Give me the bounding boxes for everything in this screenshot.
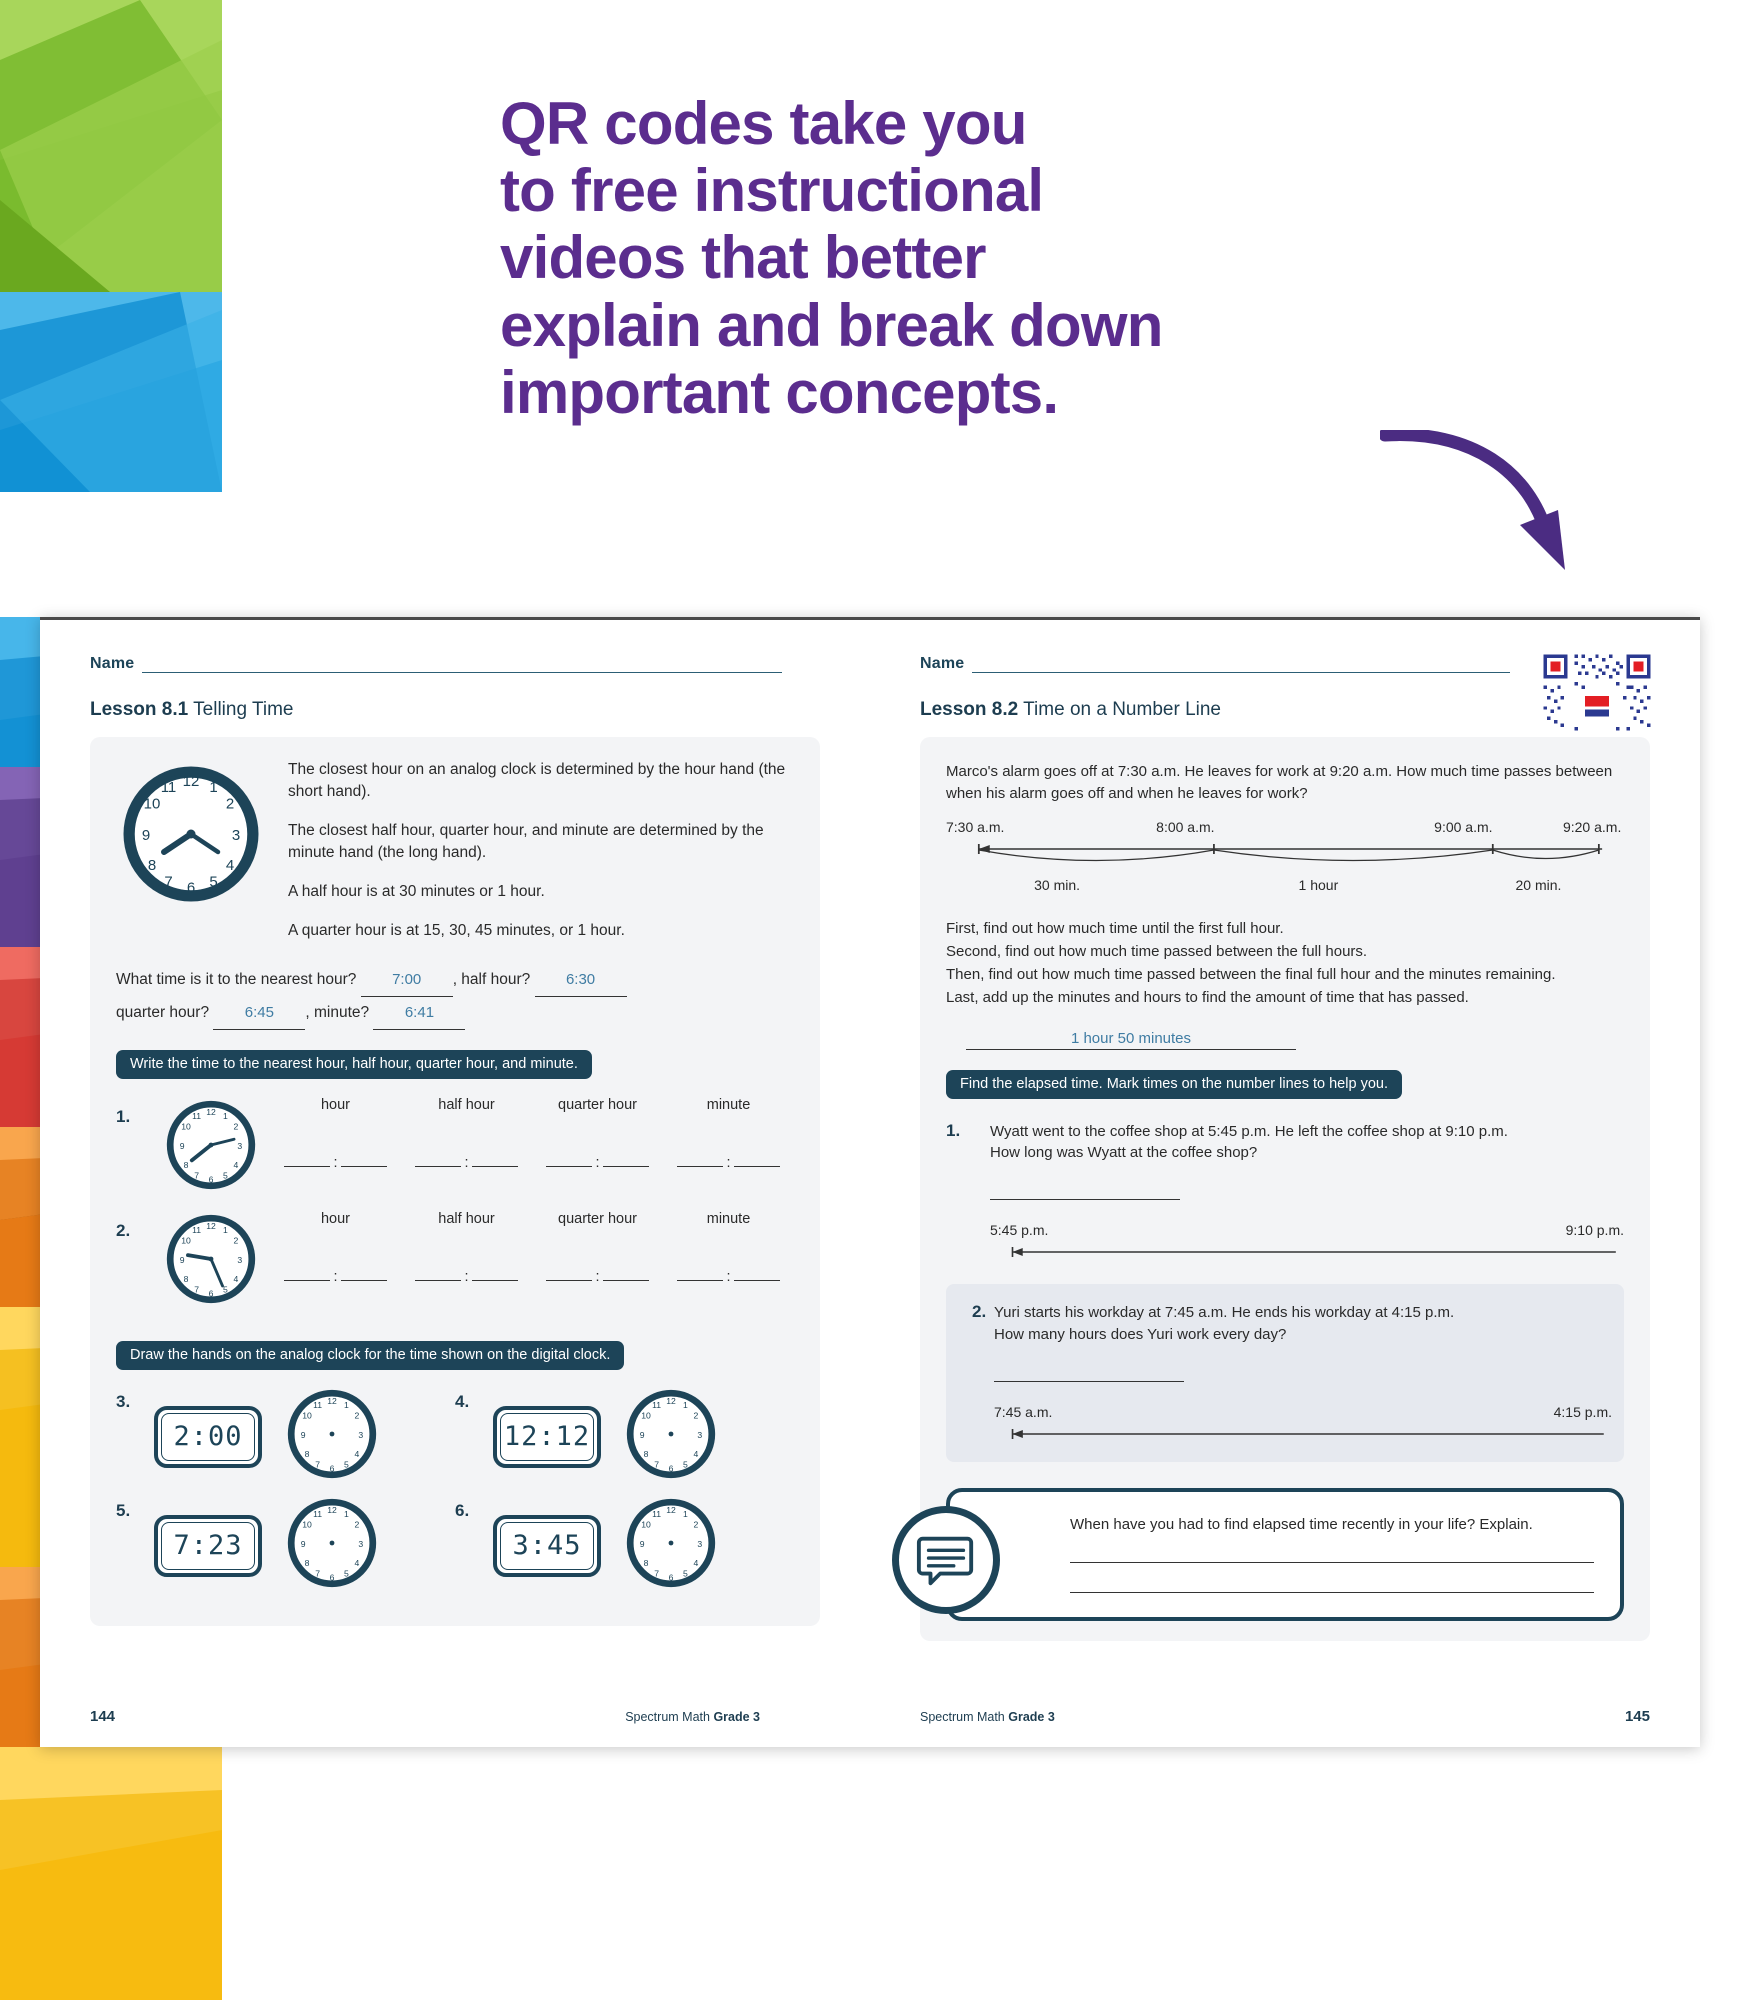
intro-paragraph-4: A quarter hour is at 15, 30, 45 minutes,… [288, 920, 794, 942]
page-number-right: 145 [1625, 1708, 1650, 1725]
svg-text:9: 9 [180, 1255, 185, 1265]
exercise-number-2: 2. [116, 1211, 152, 1241]
problem-body-2: Yuri starts his workday at 7:45 a.m. He … [994, 1302, 1612, 1444]
worksheet-spread: Name Lesson 8.1 Telling Time 1212 345 67… [40, 617, 1700, 1747]
svg-text:9: 9 [640, 1430, 645, 1440]
problem-answer-blank-1[interactable] [990, 1190, 1180, 1200]
svg-text:9: 9 [142, 827, 150, 844]
name-input-right[interactable] [972, 657, 1510, 673]
answer-blank-quarter-hour-2[interactable]: : [532, 1267, 663, 1285]
number-line-tick-labels: 7:30 a.m. 8:00 a.m. 9:00 a.m. 9:20 a.m. [946, 819, 1624, 841]
svg-text:7: 7 [194, 1171, 199, 1181]
reflection-answer-line-2[interactable] [1070, 1589, 1594, 1593]
worksheet-page-left: Name Lesson 8.1 Telling Time 1212 345 67… [40, 617, 870, 1747]
nl-tick-label-2: 8:00 a.m. [1156, 819, 1214, 835]
answer-blanks-1: : : : : [270, 1153, 794, 1171]
nl-span-label-2: 1 hour [1299, 877, 1339, 893]
digital-exercise-3: 3. 2:00 1212 345 678 [116, 1386, 455, 1487]
reflection-question: When have you had to find elapsed time r… [1070, 1516, 1594, 1533]
svg-text:7: 7 [654, 1569, 659, 1579]
intro-paragraph-2: The closest half hour, quarter hour, and… [288, 820, 794, 864]
sample-question: What time is it to the nearest hour? 7:0… [116, 964, 794, 1030]
svg-text:12: 12 [327, 1396, 337, 1406]
analog-exercise-row: 2. 1212 345 678 91011 [116, 1211, 794, 1307]
svg-text:12: 12 [327, 1505, 337, 1515]
sample-answer-half-hour[interactable]: 6:30 [535, 965, 627, 997]
lesson-number-right: Lesson 8.2 [920, 699, 1018, 720]
svg-text:2: 2 [234, 1236, 239, 1246]
digital-clock-6: 3:45 [493, 1515, 601, 1577]
svg-text:4: 4 [355, 1558, 360, 1568]
instruction-banner-right: Find the elapsed time. Mark times on the… [946, 1070, 1402, 1099]
example-analog-clock: 1212 345 678 91011 [116, 759, 266, 914]
svg-text:5: 5 [344, 1569, 349, 1579]
answer-blank-minute-2[interactable]: : [663, 1267, 794, 1285]
svg-text:4: 4 [234, 1160, 239, 1170]
svg-text:2: 2 [226, 796, 234, 813]
svg-text:6: 6 [669, 1463, 674, 1473]
footer-left: 144 Spectrum Math Grade 3 [90, 1708, 820, 1725]
svg-text:3: 3 [358, 1539, 363, 1549]
reflection-answer-line-1[interactable] [1070, 1559, 1594, 1563]
svg-text:11: 11 [192, 1225, 201, 1235]
answer-blank-hour-2[interactable]: : [270, 1267, 401, 1285]
analog-clock-1: 1212 345 678 91011 [152, 1097, 270, 1193]
exercise-number-6: 6. [455, 1495, 493, 1521]
svg-text:3: 3 [237, 1141, 242, 1151]
timeline-start-label-1: 5:45 p.m. [990, 1222, 1048, 1238]
svg-text:7: 7 [315, 1460, 320, 1470]
svg-text:6: 6 [330, 1572, 335, 1582]
digital-clock-exercises: 3. 2:00 1212 345 678 [116, 1386, 794, 1596]
left-content-panel: 1212 345 678 91011 The closest hour on a… [90, 737, 820, 1626]
headline-line-3: videos that better [500, 224, 986, 291]
svg-text:11: 11 [192, 1111, 201, 1121]
svg-text:10: 10 [181, 1122, 191, 1132]
lesson-title-left: Lesson 8.1 Telling Time [90, 699, 820, 721]
svg-text:8: 8 [184, 1274, 189, 1284]
name-row-left: Name [90, 655, 820, 673]
answer-columns-2: hour half hour quarter hour minute : : :… [270, 1211, 794, 1285]
svg-text:8: 8 [184, 1160, 189, 1170]
book-credit-left: Spectrum Math Grade 3 [625, 1710, 760, 1724]
nl-tick-label-3: 9:00 a.m. [1434, 819, 1492, 835]
nl-tick-label-1: 7:30 a.m. [946, 819, 1004, 835]
svg-text:12: 12 [183, 773, 200, 790]
svg-text:10: 10 [641, 1520, 651, 1530]
solution-step-1: First, find out how much time until the … [946, 917, 1624, 940]
book-credit-right: Spectrum Math Grade 3 [920, 1710, 1055, 1724]
svg-text:6: 6 [209, 1174, 214, 1184]
col-head-half-hour-1: half hour [401, 1097, 532, 1113]
col-head-minute-2: minute [663, 1211, 794, 1227]
sample-q2: , half hour? [453, 971, 531, 988]
blank-analog-clock-3[interactable]: 1212 345 678 91011 [284, 1386, 380, 1487]
svg-text:7: 7 [194, 1285, 199, 1295]
svg-text:9: 9 [640, 1539, 645, 1549]
instruction-banner-2: Draw the hands on the analog clock for t… [116, 1341, 624, 1370]
svg-text:11: 11 [313, 1509, 322, 1519]
svg-text:2: 2 [694, 1520, 699, 1530]
digital-exercise-row: 3. 2:00 1212 345 678 [116, 1386, 794, 1487]
svg-text:6: 6 [209, 1288, 214, 1298]
number-line-svg [946, 841, 1624, 879]
book-grade-left: Grade 3 [713, 1710, 760, 1724]
svg-text:9: 9 [180, 1141, 185, 1151]
col-head-half-hour-2: half hour [401, 1211, 532, 1227]
reflection-box: When have you had to find elapsed time r… [946, 1488, 1624, 1621]
nl-tick-label-4: 9:20 a.m. [1563, 819, 1621, 835]
speech-bubble-icon [892, 1506, 1000, 1614]
svg-text:6: 6 [187, 880, 195, 897]
story-problem-text: Marco's alarm goes off at 7:30 a.m. He l… [946, 761, 1624, 805]
column-headings-1: hour half hour quarter hour minute [270, 1097, 794, 1113]
name-label-right: Name [920, 655, 964, 673]
book-title-right: Spectrum Math [920, 1710, 1005, 1724]
solution-step-2: Second, find out how much time passed be… [946, 940, 1624, 963]
worksheet-page-right: Name Lesson 8.2 Time on a Number Line Ma… [870, 617, 1700, 1747]
digital-time-3: 2:00 [173, 1421, 242, 1452]
problem-block-2: 2. Yuri starts his workday at 7:45 a.m. … [946, 1284, 1624, 1462]
problem-body-1: Wyatt went to the coffee shop at 5:45 p.… [990, 1121, 1624, 1263]
svg-text:2: 2 [694, 1411, 699, 1421]
solution-steps: First, find out how much time until the … [946, 917, 1624, 1010]
curved-arrow-icon [1380, 430, 1590, 580]
column-headings-2: hour half hour quarter hour minute [270, 1211, 794, 1227]
svg-text:6: 6 [669, 1572, 674, 1582]
svg-text:12: 12 [206, 1107, 216, 1117]
solution-step-4: Last, add up the minutes and hours to fi… [946, 986, 1624, 1009]
headline-line-5: important concepts. [500, 359, 1058, 426]
problem-timeline-2[interactable]: 7:45 a.m. 4:15 p.m. [994, 1404, 1612, 1444]
timeline-end-label-1: 9:10 p.m. [1566, 1222, 1624, 1238]
name-label-left: Name [90, 655, 134, 673]
svg-text:10: 10 [302, 1411, 312, 1421]
svg-text:1: 1 [344, 1509, 349, 1519]
instruction-banner-1: Write the time to the nearest hour, half… [116, 1050, 592, 1079]
solution-step-3: Then, find out how much time passed betw… [946, 963, 1624, 986]
svg-text:4: 4 [234, 1274, 239, 1284]
problem-block-1: 1. Wyatt went to the coffee shop at 5:45… [946, 1121, 1624, 1263]
svg-text:2: 2 [234, 1122, 239, 1132]
headline-text: QR codes take you to free instructional … [500, 90, 1370, 426]
svg-text:3: 3 [697, 1430, 702, 1440]
exercise-number-1: 1. [116, 1097, 152, 1127]
col-head-hour-2: hour [270, 1211, 401, 1227]
headline-line-1: QR codes take you [500, 90, 1027, 157]
svg-text:4: 4 [226, 857, 234, 874]
svg-text:4: 4 [694, 1558, 699, 1568]
svg-text:1: 1 [223, 1111, 228, 1121]
svg-text:8: 8 [305, 1449, 310, 1459]
col-head-hour-1: hour [270, 1097, 401, 1113]
svg-text:3: 3 [237, 1255, 242, 1265]
svg-text:1: 1 [683, 1400, 688, 1410]
svg-text:5: 5 [223, 1171, 228, 1181]
footer-right: Spectrum Math Grade 3 145 [920, 1708, 1650, 1725]
svg-text:8: 8 [644, 1558, 649, 1568]
answer-blank-half-hour-1[interactable]: : [401, 1153, 532, 1171]
digital-time-5: 7:23 [173, 1530, 242, 1561]
exercise-number-4: 4. [455, 1386, 493, 1412]
book-grade-right: Grade 3 [1008, 1710, 1055, 1724]
problem-text-1-line1: Wyatt went to the coffee shop at 5:45 p.… [990, 1121, 1624, 1143]
problem-text-2-line2: How many hours does Yuri work every day? [994, 1324, 1612, 1346]
intro-text: The closest hour on an analog clock is d… [288, 759, 794, 942]
svg-text:6: 6 [330, 1463, 335, 1473]
answer-blank-hour-1[interactable]: : [270, 1153, 401, 1171]
svg-text:12: 12 [666, 1396, 676, 1406]
svg-text:3: 3 [358, 1430, 363, 1440]
problem-number-1: 1. [946, 1121, 990, 1263]
svg-text:12: 12 [666, 1505, 676, 1515]
svg-text:8: 8 [305, 1558, 310, 1568]
digital-exercise-6: 6. 3:45 1212 345 678 [455, 1495, 794, 1596]
digital-clock-3: 2:00 [154, 1406, 262, 1468]
svg-text:3: 3 [697, 1539, 702, 1549]
answer-blank-minute-1[interactable]: : [663, 1153, 794, 1171]
svg-text:1: 1 [223, 1225, 228, 1235]
svg-text:1: 1 [209, 779, 217, 796]
blank-analog-clock-4[interactable]: 1212 345 678 91011 [623, 1386, 719, 1487]
digital-time-4: 12:12 [504, 1421, 590, 1452]
svg-text:9: 9 [301, 1539, 306, 1549]
svg-text:10: 10 [181, 1236, 191, 1246]
intro-block: 1212 345 678 91011 The closest hour on a… [116, 759, 794, 942]
digital-clock-4: 12:12 [493, 1406, 601, 1468]
problem-number-2: 2. [950, 1302, 994, 1444]
blank-analog-clock-6[interactable]: 1212 345 678 91011 [623, 1495, 719, 1596]
col-head-quarter-hour-1: quarter hour [532, 1097, 663, 1113]
sample-answer-hour[interactable]: 7:00 [361, 965, 453, 997]
example-number-line: 7:30 a.m. 8:00 a.m. 9:00 a.m. 9:20 a.m. [946, 819, 1624, 897]
svg-text:8: 8 [148, 857, 156, 874]
problem-answer-blank-2[interactable] [994, 1372, 1184, 1382]
sample-q4: , minute? [305, 1004, 369, 1021]
book-title-left: Spectrum Math [625, 1710, 710, 1724]
digital-exercise-5: 5. 7:23 1212 345 678 [116, 1495, 455, 1596]
nl-span-label-1: 30 min. [1034, 877, 1080, 893]
answer-blank-half-hour-2[interactable]: : [401, 1267, 532, 1285]
svg-text:5: 5 [209, 874, 217, 891]
page-number-left: 144 [90, 1708, 115, 1725]
lesson-name-left: Telling Time [193, 699, 293, 720]
problem-timeline-1[interactable]: 5:45 p.m. 9:10 p.m. [990, 1222, 1624, 1262]
svg-text:11: 11 [313, 1400, 322, 1410]
answer-blank-quarter-hour-1[interactable]: : [532, 1153, 663, 1171]
svg-text:1: 1 [344, 1400, 349, 1410]
sample-answer-minute[interactable]: 6:41 [373, 998, 465, 1030]
problem-text-2-line1: Yuri starts his workday at 7:45 a.m. He … [994, 1302, 1612, 1324]
svg-text:2: 2 [355, 1520, 360, 1530]
svg-text:12: 12 [206, 1221, 216, 1231]
blank-analog-clock-5[interactable]: 1212 345 678 91011 [284, 1495, 380, 1596]
right-content-panel: Marco's alarm goes off at 7:30 a.m. He l… [920, 737, 1650, 1641]
svg-text:4: 4 [694, 1449, 699, 1459]
svg-text:3: 3 [232, 827, 240, 844]
sample-q3: quarter hour? [116, 1004, 209, 1021]
intro-paragraph-3: A half hour is at 30 minutes or 1 hour. [288, 881, 794, 903]
svg-text:1: 1 [683, 1509, 688, 1519]
intro-paragraph-1: The closest hour on an analog clock is d… [288, 759, 794, 803]
example-answer[interactable]: 1 hour 50 minutes [966, 1030, 1296, 1050]
svg-text:10: 10 [302, 1520, 312, 1530]
svg-text:10: 10 [641, 1411, 651, 1421]
timeline-start-label-2: 7:45 a.m. [994, 1404, 1052, 1420]
problem-text-1-line2: How long was Wyatt at the coffee shop? [990, 1142, 1624, 1164]
lesson-number-left: Lesson 8.1 [90, 699, 188, 720]
svg-text:11: 11 [652, 1509, 661, 1519]
svg-text:10: 10 [144, 796, 161, 813]
svg-text:7: 7 [654, 1460, 659, 1470]
digital-exercise-4: 4. 12:12 1212 345 678 [455, 1386, 794, 1487]
svg-text:7: 7 [164, 874, 172, 891]
headline-line-2: to free instructional [500, 157, 1043, 224]
headline-block: QR codes take you to free instructional … [500, 90, 1370, 426]
sample-q1: What time is it to the nearest hour? [116, 971, 356, 988]
svg-text:11: 11 [652, 1400, 661, 1410]
analog-clock-2: 1212 345 678 91011 [152, 1211, 270, 1307]
name-input-left[interactable] [142, 657, 782, 673]
svg-text:9: 9 [301, 1430, 306, 1440]
sample-answer-quarter-hour[interactable]: 6:45 [213, 998, 305, 1030]
exercise-number-3: 3. [116, 1386, 154, 1412]
col-head-minute-1: minute [663, 1097, 794, 1113]
svg-text:5: 5 [344, 1460, 349, 1470]
analog-exercise-row: 1. 1212 345 678 91011 [116, 1097, 794, 1193]
headline-line-4: explain and break down [500, 292, 1163, 359]
answer-blanks-2: : : : : [270, 1267, 794, 1285]
svg-text:4: 4 [355, 1449, 360, 1459]
svg-text:8: 8 [644, 1449, 649, 1459]
nl-span-label-3: 20 min. [1516, 877, 1562, 893]
digital-time-6: 3:45 [512, 1530, 581, 1561]
lesson-name-right: Time on a Number Line [1023, 699, 1221, 720]
answer-columns-1: hour half hour quarter hour minute : : :… [270, 1097, 794, 1171]
svg-text:11: 11 [161, 779, 177, 796]
svg-text:2: 2 [355, 1411, 360, 1421]
digital-clock-5: 7:23 [154, 1515, 262, 1577]
digital-exercise-row: 5. 7:23 1212 345 678 [116, 1495, 794, 1596]
svg-text:5: 5 [683, 1569, 688, 1579]
timeline-end-label-2: 4:15 p.m. [1554, 1404, 1612, 1420]
svg-text:7: 7 [315, 1569, 320, 1579]
exercise-number-5: 5. [116, 1495, 154, 1521]
col-head-quarter-hour-2: quarter hour [532, 1211, 663, 1227]
svg-text:5: 5 [683, 1460, 688, 1470]
